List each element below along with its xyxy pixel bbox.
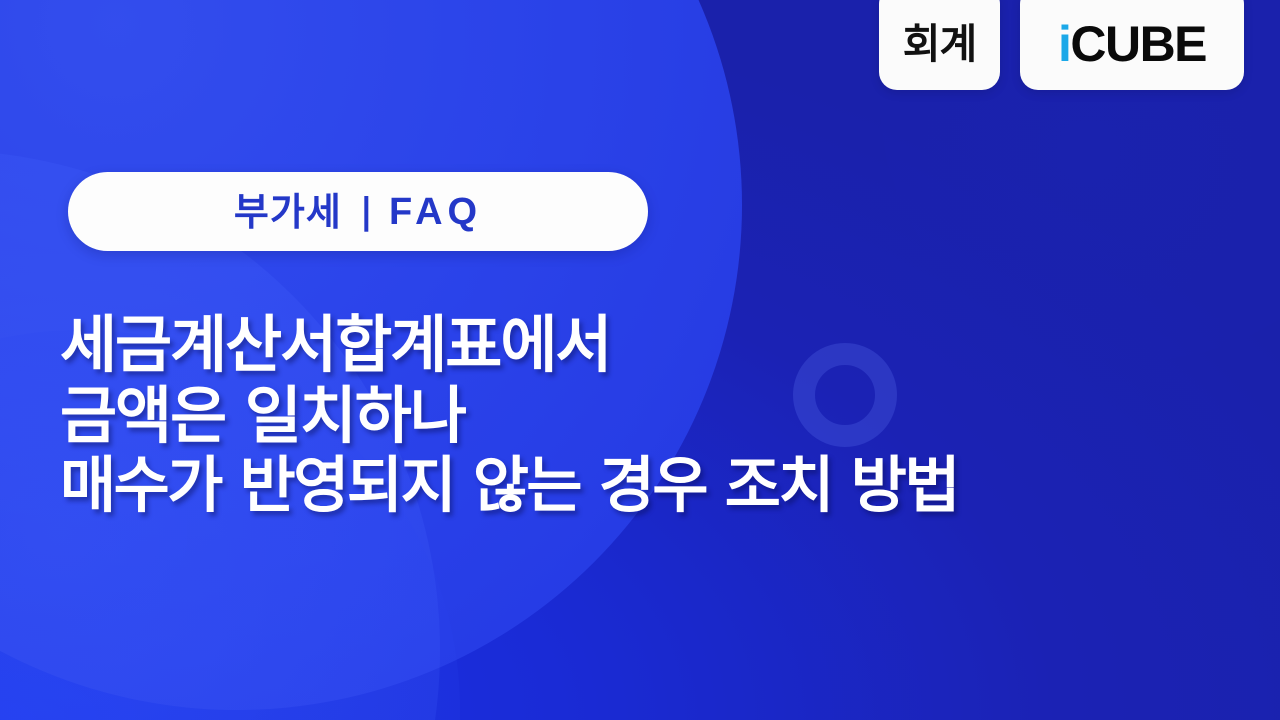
module-chip-accounting: 회계 [879,0,1000,90]
brand-prefix-letter: i [1058,16,1070,72]
category-pill-content: 부가세 | FAQ [234,193,482,231]
page-title: 세금계산서합계표에서 금액은 일치하나 매수가 반영되지 않는 경우 조치 방법 [60,310,1240,521]
brand-chip-icube: iCUBE [1020,0,1244,90]
brand-wordmark: iCUBE [1058,19,1206,69]
title-card: 회계 iCUBE 부가세 | FAQ 세금계산서합계표에서 금액은 일치하나 매… [0,0,1280,720]
headline-line-2: 금액은 일치하나 [60,381,1240,452]
brand-name-label: CUBE [1070,16,1206,72]
headline-line-3: 매수가 반영되지 않는 경우 조치 방법 [60,451,1240,521]
headline-line-1: 세금계산서합계표에서 [60,310,1240,381]
category-pill: 부가세 | FAQ [68,172,648,251]
pill-separator: | [360,194,373,230]
pill-tag-label: FAQ [389,193,482,231]
module-chip-label: 회계 [903,24,976,65]
brand-logo-group: 회계 iCUBE [879,0,1244,90]
category-label: 부가세 [234,193,342,231]
